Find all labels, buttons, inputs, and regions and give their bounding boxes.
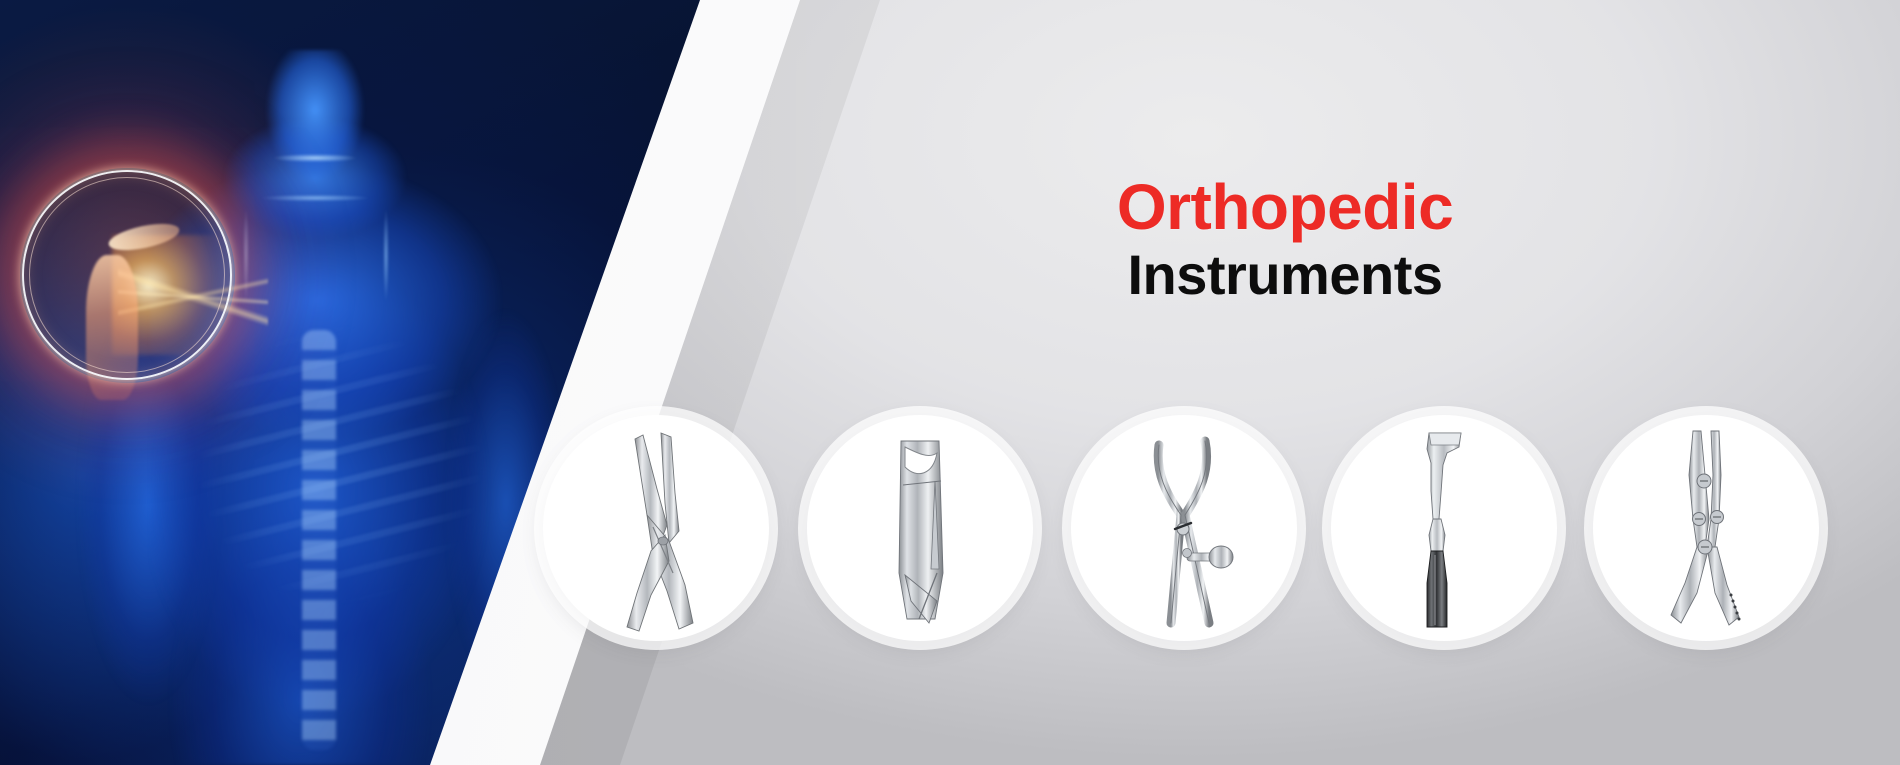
reduction-forceps-icon — [1109, 423, 1259, 633]
instrument-circle-extraction-forceps[interactable] — [543, 415, 769, 641]
heading-line-primary: Orthopedic — [1055, 175, 1515, 239]
rongeur-icon — [845, 423, 995, 633]
instrument-circle-rod-bender-plier[interactable] — [1593, 415, 1819, 641]
forceps-icon — [581, 423, 731, 633]
banner-heading: Orthopedic Instruments — [1055, 175, 1515, 303]
instrument-circle-bone-osteotome[interactable] — [1331, 415, 1557, 641]
instrument-circle-bone-reduction-forceps[interactable] — [1071, 415, 1297, 641]
rod-bender-icon — [1631, 423, 1781, 633]
shoulder-highlight-ring-inner — [29, 177, 225, 373]
osteotome-icon — [1369, 423, 1519, 633]
instrument-thumbnail-row — [543, 415, 1853, 655]
orthopedic-instruments-banner: Orthopedic Instruments — [0, 0, 1900, 765]
instrument-circle-bone-rongeur[interactable] — [807, 415, 1033, 641]
heading-line-secondary: Instruments — [1055, 247, 1515, 303]
